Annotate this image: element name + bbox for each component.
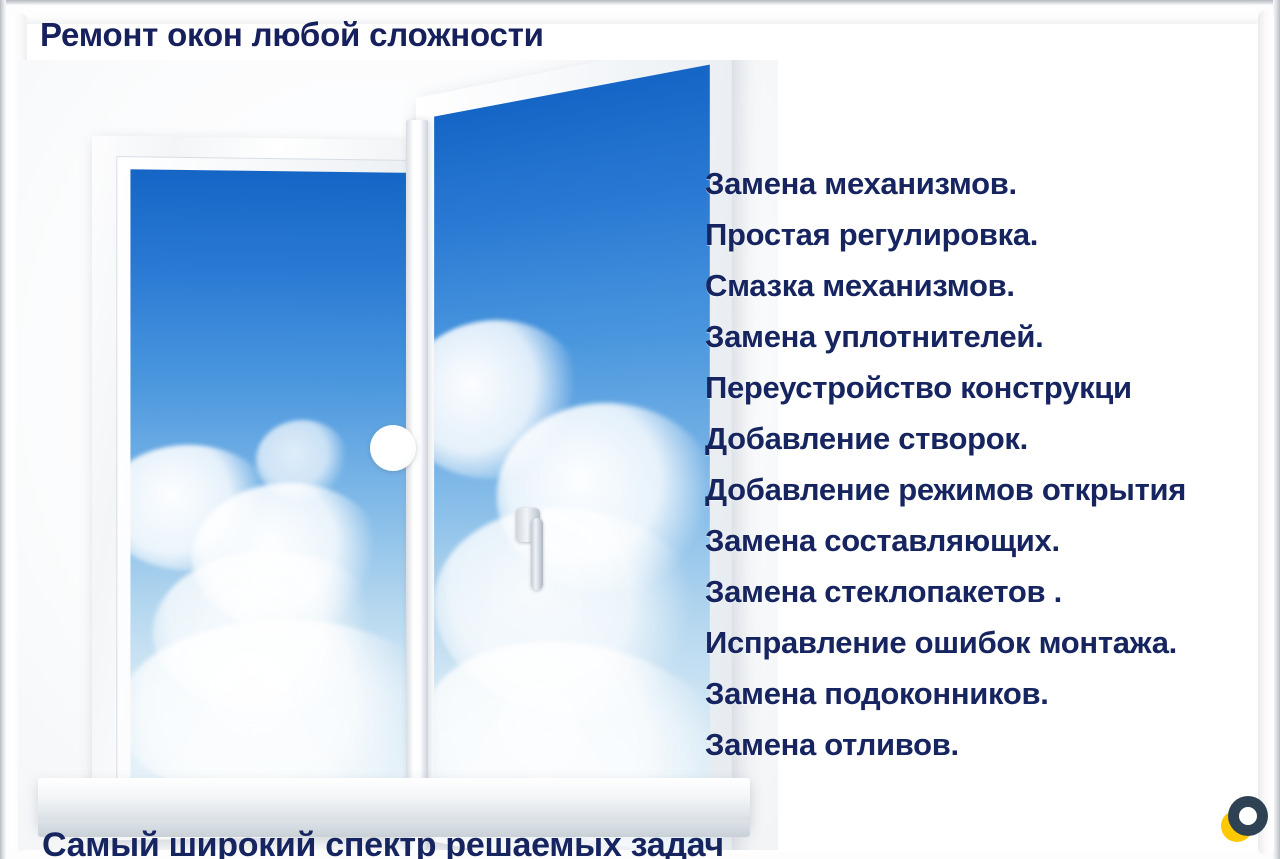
list-item: Замена отливов. bbox=[705, 719, 1280, 770]
page-edge-left bbox=[0, 0, 6, 859]
window-sash-open bbox=[416, 60, 732, 850]
window-mullion bbox=[406, 120, 428, 850]
list-item: Замена составляющих. bbox=[705, 515, 1280, 566]
window-glass-fixed bbox=[130, 169, 407, 795]
page-edge-top bbox=[0, 0, 1280, 5]
avito-logo-icon bbox=[1212, 786, 1274, 848]
list-item: Простая регулировка. bbox=[705, 209, 1280, 260]
list-item: Добавление режимов открытия bbox=[705, 464, 1280, 515]
list-item: Замена стеклопакетов . bbox=[705, 566, 1280, 617]
list-item: Переустройство конструкци bbox=[705, 362, 1280, 413]
list-item: Замена механизмов. bbox=[705, 158, 1280, 209]
cloud-shape bbox=[256, 420, 350, 501]
window-handle-lever bbox=[531, 518, 543, 590]
list-item: Смазка механизмов. bbox=[705, 260, 1280, 311]
page-title: Ремонт окон любой сложности bbox=[40, 16, 544, 54]
window-glass-open bbox=[434, 65, 710, 850]
features-list: Замена механизмов. Простая регулировка. … bbox=[705, 158, 1280, 770]
carousel-dot-indicator[interactable] bbox=[370, 425, 416, 471]
list-item: Добавление створок. bbox=[705, 413, 1280, 464]
poster-caption: Самый широкий спектр решаемых задач bbox=[42, 826, 724, 859]
window-photo bbox=[18, 60, 778, 850]
list-item: Исправление ошибок монтажа. bbox=[705, 617, 1280, 668]
list-item: Замена уплотнителей. bbox=[705, 311, 1280, 362]
cloud-shape bbox=[130, 619, 407, 796]
list-item: Замена подоконников. bbox=[705, 668, 1280, 719]
window-frame-fixed bbox=[92, 136, 437, 841]
poster-root: Ремонт окон любой сложности bbox=[0, 0, 1280, 859]
window-sash-fixed bbox=[116, 156, 419, 812]
window-sill bbox=[38, 778, 750, 826]
